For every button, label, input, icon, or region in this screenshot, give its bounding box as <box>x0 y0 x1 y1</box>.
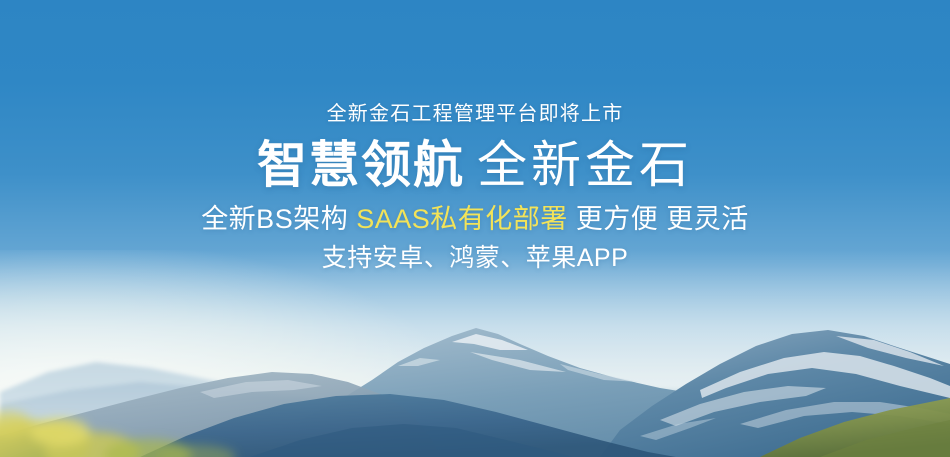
tagline-accent: SAAS私有化部署 <box>356 204 568 234</box>
banner-tagline: 全新BS架构 SAAS私有化部署 更方便 更灵活 <box>0 200 950 238</box>
headline-secondary: 全新金石 <box>477 137 693 193</box>
banner-headline: 智慧领航全新金石 <box>0 134 950 196</box>
hero-banner: 全新金石工程管理平台即将上市 智慧领航全新金石 全新BS架构 SAAS私有化部署… <box>0 0 950 457</box>
banner-eyebrow: 全新金石工程管理平台即将上市 <box>0 100 950 128</box>
headline-primary: 智慧领航 <box>257 137 465 193</box>
tagline-trail: 更方便 更灵活 <box>576 204 749 234</box>
banner-platforms: 支持安卓、鸿蒙、苹果APP <box>0 240 950 276</box>
banner-copy: 全新金石工程管理平台即将上市 智慧领航全新金石 全新BS架构 SAAS私有化部署… <box>0 100 950 276</box>
tagline-lead: 全新BS架构 <box>201 204 348 234</box>
